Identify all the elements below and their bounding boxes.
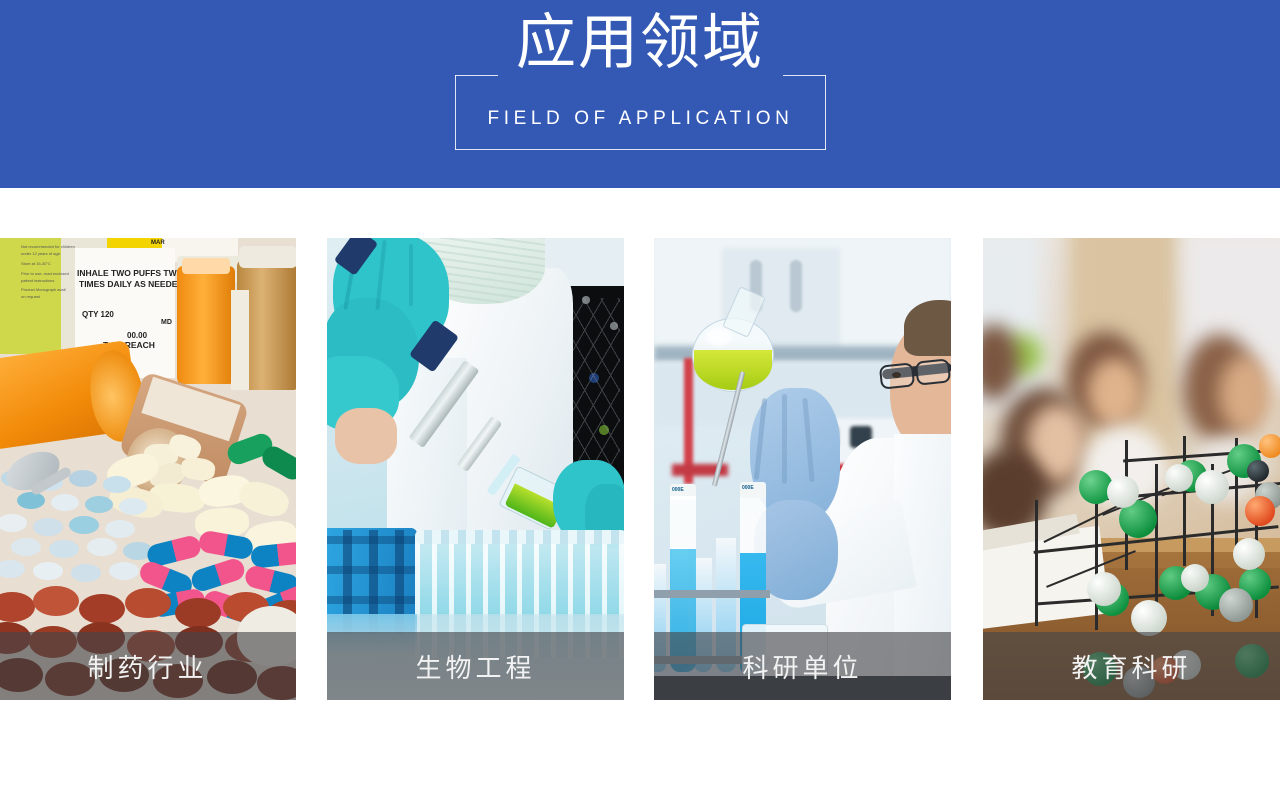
frame-bottom-edge (455, 149, 826, 150)
application-card-education-research[interactable]: 教育科研 (983, 238, 1280, 700)
bioengineering-photo (327, 238, 624, 700)
page-subtitle: FIELD OF APPLICATION (455, 108, 826, 130)
card-caption-text: 生物工程 (327, 632, 624, 700)
frame-top-right-edge (783, 75, 826, 76)
page-title: 应用领域 (0, 13, 1280, 73)
card-caption-text: 教育科研 (983, 632, 1280, 700)
pharmaceutical-photo: INHALE TWO PUFFS TWIC TIMES DAILY AS NEE… (0, 238, 296, 700)
card-caption-text: 科研单位 (654, 632, 951, 700)
research-institute-photo: 000E 000E (654, 238, 951, 700)
card-caption-overlay: 生物工程 (327, 632, 624, 700)
card-caption-overlay: 教育科研 (983, 632, 1280, 700)
application-card-research-institute[interactable]: 000E 000E 科研单位 (654, 238, 951, 700)
page-banner: 应用领域 FIELD OF APPLICATION (0, 0, 1280, 188)
application-card-pharmaceutical[interactable]: INHALE TWO PUFFS TWIC TIMES DAILY AS NEE… (0, 238, 296, 700)
card-caption-overlay: 制药行业 (0, 632, 296, 700)
frame-top-left-edge (455, 75, 498, 76)
application-card-bioengineering[interactable]: 生物工程 (327, 238, 624, 700)
card-caption-overlay: 科研单位 (654, 632, 951, 700)
card-caption-text: 制药行业 (0, 632, 296, 700)
application-card-grid: INHALE TWO PUFFS TWIC TIMES DAILY AS NEE… (0, 238, 1280, 700)
education-research-photo (983, 238, 1280, 700)
